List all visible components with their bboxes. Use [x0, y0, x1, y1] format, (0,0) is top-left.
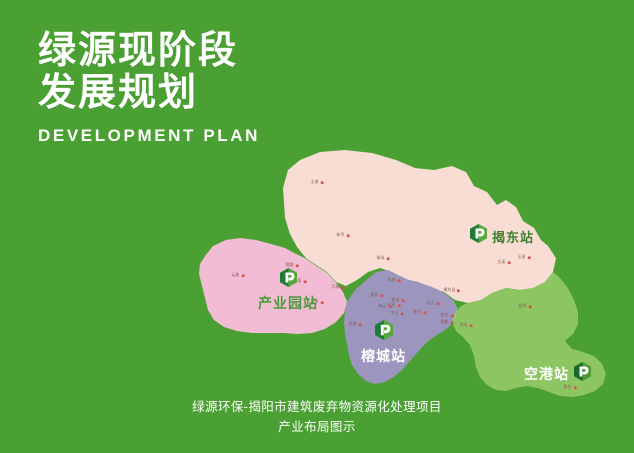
- development-plan-slide: 玉湖新亨锡场霖磐古溪玉滘云路白塔月城桂岭揭东县磐东曲溪仙桥梅云东山中山新兴溪南炮…: [0, 0, 634, 453]
- lvyuan-hex-logo-icon: [280, 268, 297, 292]
- station-label-konggang: 空港站: [524, 364, 569, 384]
- caption-line-1: 绿源环保-揭阳市建筑废弃物资源化处理项目: [0, 397, 634, 417]
- caption-line-2: 产业布局图示: [0, 417, 634, 437]
- lvyuan-hex-logo-icon: [574, 362, 591, 386]
- station-label-chanyeyuan: 产业园站: [258, 293, 318, 313]
- station-marker-rongcheng[interactable]: 榕城站: [361, 320, 406, 366]
- station-marker-chanyeyuan[interactable]: 产业园站: [258, 268, 318, 313]
- page-subtitle: DEVELOPMENT PLAN: [38, 126, 260, 146]
- station-marker-konggang[interactable]: 空港站: [524, 362, 591, 386]
- page-title-line-2: 发展规划: [38, 72, 260, 114]
- lvyuan-hex-logo-icon: [375, 320, 393, 345]
- page-title-line-1: 绿源现阶段: [38, 30, 260, 72]
- lvyuan-hex-logo-icon: [470, 224, 487, 248]
- map-caption: 绿源环保-揭阳市建筑废弃物资源化处理项目 产业布局图示: [0, 397, 634, 437]
- title-block: 绿源现阶段 发展规划 DEVELOPMENT PLAN: [38, 30, 260, 146]
- station-marker-jiedong[interactable]: 揭东站: [470, 224, 534, 248]
- station-label-rongcheng: 榕城站: [361, 346, 406, 366]
- station-label-jiedong: 揭东站: [492, 227, 534, 246]
